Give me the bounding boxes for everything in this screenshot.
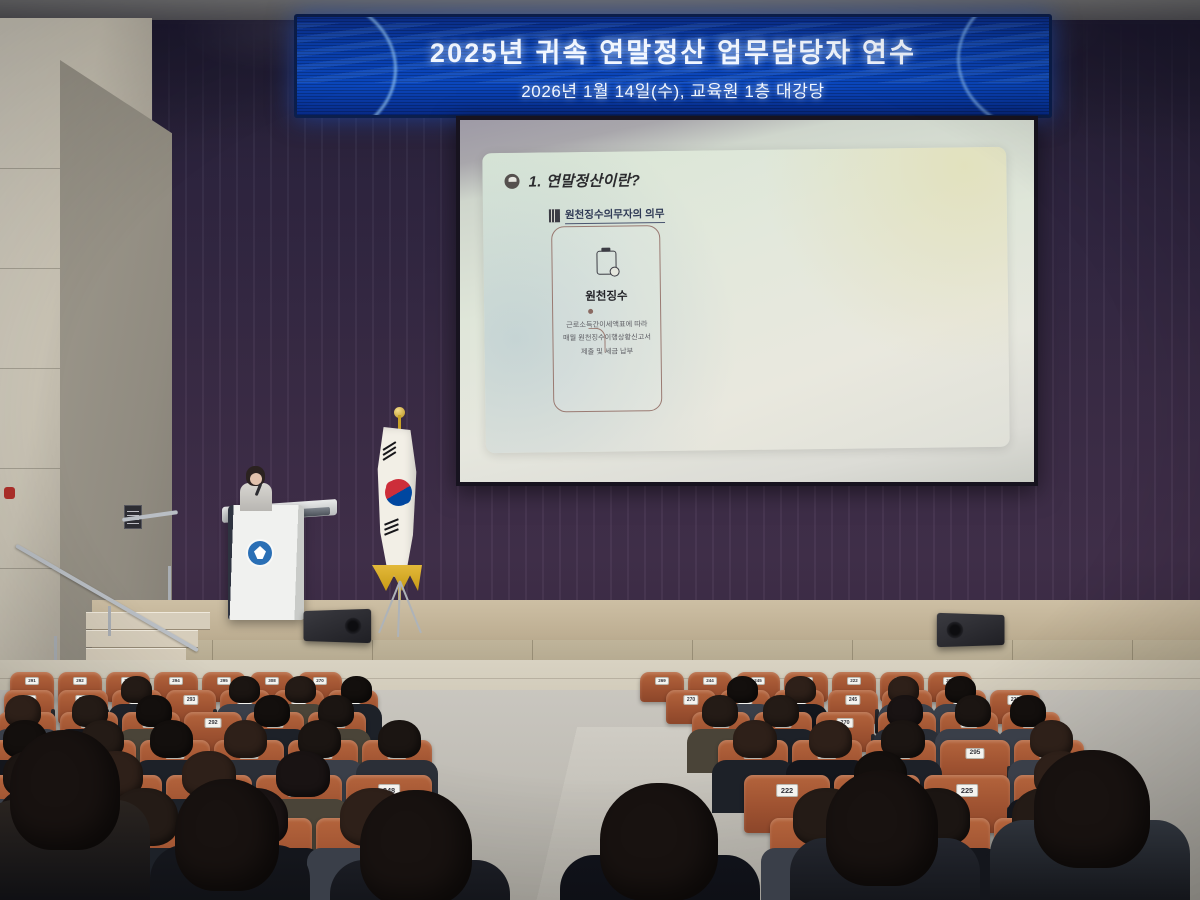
seat-number-plate: 222 [776,784,798,797]
taeguk-symbol [385,479,412,506]
stage-monitor-right [937,613,1005,647]
left-wall-return [60,60,172,670]
auditorium-photo: 2025년 귀속 연말정산 업무담당자 연수 2026년 1월 14일(수), … [0,0,1200,900]
slide-heading: 1. 연말정산이란? [528,169,640,191]
seat-number-plate: 292 [205,718,222,728]
audience-member [229,676,260,703]
connector-hook [588,328,605,353]
foreground-attendee-head [600,783,718,900]
presentation-slide: 1. 연말정산이란? 원천징수의무자의 의무 원천징수 근로소득간이세액표에 따… [482,147,1010,453]
foreground-attendee-head [360,790,472,900]
card-title: 원천징수 [553,287,660,304]
fire-alarm-icon [4,487,15,499]
audience-member [254,695,290,727]
card-line-2: 매월 원천징수이행상황신고서 [559,330,654,344]
seat-number-plate: 269 [655,677,669,685]
korean-flag [362,405,438,630]
slide-subheading-row: 원천징수의무자의 의무 [549,206,665,224]
foreground-attendee-head [1034,750,1150,868]
building-icon [549,209,560,222]
foreground-attendee-head [826,770,938,886]
presenter [240,466,272,510]
person-avatar-icon [504,174,519,189]
slide-card: 원천징수 근로소득간이세액표에 따라 매월 원천징수이행상황신고서 제출 및 세… [551,225,662,412]
audience-member [378,720,421,758]
slide-heading-row: 1. 연말정산이란? [504,169,640,192]
led-banner: 2025년 귀속 연말정산 업무담당자 연수 2026년 1월 14일(수), … [294,14,1052,118]
card-line-3: 제출 및 세금 납부 [560,344,655,358]
seat-number-plate: 270 [683,695,698,704]
slide-subheading: 원천징수의무자의 의무 [565,206,665,224]
banner-title: 2025년 귀속 연말정산 업무담당자 연수 [297,31,1049,70]
stage-monitor-left [304,609,372,643]
clipboard-check-icon [596,251,616,275]
seat-number-plate: 294 [169,677,183,685]
audience-member [285,676,316,703]
seat-number-plate: 308 [265,677,279,685]
audience-member [276,751,329,797]
seat-number-plate: 222 [847,677,861,685]
banner-subtitle: 2026년 1월 14일(수), 교육원 1층 대강당 [297,77,1049,102]
card-line-1: 근로소득간이세액표에 따라 [559,317,654,331]
audience-member [955,695,991,727]
institution-logo-icon [248,541,272,565]
audience-member [150,720,193,758]
audience-member [733,720,776,758]
audience-member [224,720,267,758]
foreground-attendee-head [10,730,120,850]
seat-number-plate: 295 [965,748,984,759]
seat-number-plate: 292 [73,677,87,685]
podium [228,505,304,620]
connector-dot [588,309,593,314]
audience-member [809,720,852,758]
wall-sign [124,505,142,529]
card-body: 근로소득간이세액표에 따라 매월 원천징수이행상황신고서 제출 및 세금 납부 [553,317,660,358]
foreground-attendee-head [175,779,279,891]
seat-number-plate: 245 [845,695,860,704]
audience-member [702,695,738,727]
seat-number-plate: 244 [703,677,717,685]
seat-number-plate: 291 [25,677,39,685]
projection-screen: 1. 연말정산이란? 원천징수의무자의 의무 원천징수 근로소득간이세액표에 따… [456,116,1038,486]
seat-number-plate: 293 [183,695,198,704]
